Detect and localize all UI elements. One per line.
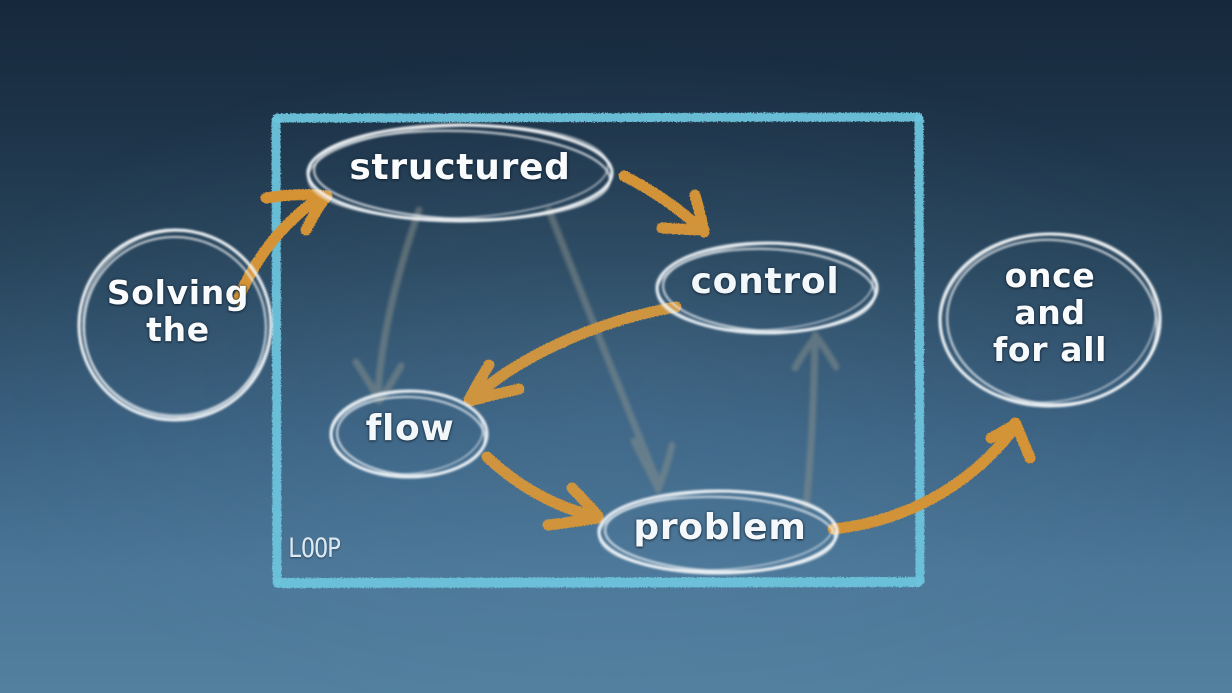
node-outline-structured (306, 120, 612, 225)
edge-control-to-flow (469, 307, 676, 401)
secondary-edges (356, 210, 836, 506)
node-outlines (64, 120, 1166, 576)
edge-problem-to-control (795, 335, 836, 506)
edge-structured-to-problem (549, 210, 672, 490)
edge-flow-to-problem (487, 457, 598, 525)
edge-solving-to-structured (238, 195, 327, 300)
node-outline-control (655, 238, 877, 335)
node-outline-flow (328, 387, 487, 479)
edge-structured-to-flow (356, 210, 419, 401)
node-outline-problem (597, 487, 837, 575)
node-outline-solving (64, 211, 291, 435)
primary-edges (238, 176, 1030, 529)
edge-problem-to-once (833, 423, 1030, 529)
edge-structured-to-control (624, 176, 704, 232)
node-outline-once (931, 221, 1166, 414)
diagram-canvas: Solving the structured control flow prob… (0, 0, 1232, 693)
diagram-artwork (0, 0, 1232, 693)
loop-container-label: LOOP (288, 533, 340, 564)
